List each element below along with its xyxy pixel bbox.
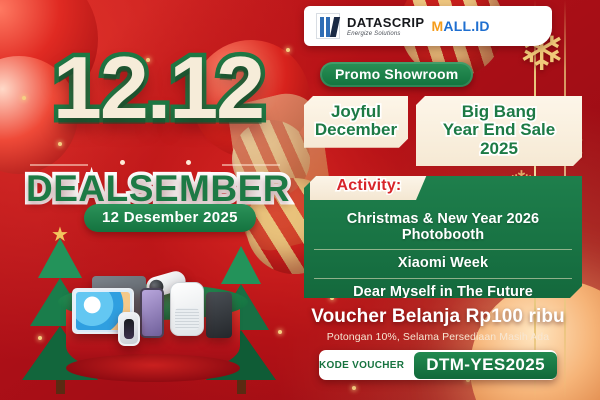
brand-name: DATASCRIP: [347, 16, 425, 29]
voucher-code-bar[interactable]: KODE VOUCHER DTM-YES2025: [319, 350, 557, 380]
activity-badge-label: Activity:: [337, 177, 402, 195]
divider: [222, 164, 280, 166]
sparkle-dot: [186, 160, 191, 165]
promotional-banner: ❄ ❄ ❄ ❄ 12.12 DEALSEMBER 12 Desember 202…: [0, 0, 600, 400]
partner-logo: MALL.ID: [432, 19, 490, 33]
list-item[interactable]: Xiaomi Week: [314, 249, 572, 277]
datascrip-logo-icon: [316, 13, 340, 39]
product-smartwatch: [118, 312, 140, 346]
promo-card-line: 2025: [424, 140, 574, 158]
brand-tagline: Energize Solutions: [347, 31, 425, 37]
activity-panel: Activity: Christmas & New Year 2026 Phot…: [304, 176, 582, 298]
brand-logo-bar: DATASCRIP Energize Solutions MALL.ID: [304, 6, 552, 46]
activity-badge: Activity:: [310, 172, 428, 200]
voucher-title: Voucher Belanja Rp100 ribu: [304, 306, 572, 328]
promo-card-line: Joyful: [312, 103, 400, 121]
sparkle-dot: [120, 160, 125, 165]
voucher-code-value[interactable]: DTM-YES2025: [414, 352, 557, 379]
voucher-code-label: KODE VOUCHER: [319, 360, 404, 371]
promo-card-joyful-december[interactable]: Joyful December: [304, 96, 408, 148]
star-icon: ★: [51, 222, 69, 247]
product-speaker: [206, 292, 232, 338]
promo-card-big-bang-year-end-sale[interactable]: Big Bang Year End Sale 2025: [416, 96, 582, 166]
promo-showroom-label: Promo Showroom: [320, 62, 473, 87]
event-date-badge: 12 Desember 2025: [84, 204, 256, 232]
voucher-section: Voucher Belanja Rp100 ribu Potongan 10%,…: [304, 306, 572, 380]
list-item[interactable]: Christmas & New Year 2026 Photobooth: [314, 206, 572, 249]
list-item[interactable]: Dear Myself in The Future: [314, 278, 572, 306]
promo-card-line: December: [312, 121, 400, 139]
promo-box-row: Joyful December Big Bang Year End Sale 2…: [304, 96, 582, 166]
partner-logo-rest: ALL.ID: [443, 18, 489, 34]
divider: [30, 164, 88, 166]
partner-logo-initial: M: [432, 18, 444, 34]
info-column: DATASCRIP Energize Solutions MALL.ID Pro…: [300, 0, 586, 400]
voucher-subtitle: Potongan 10%, Selama Persediaan Masih Ad…: [304, 331, 572, 343]
activity-list: Christmas & New Year 2026 Photobooth Xia…: [314, 206, 572, 306]
product-smartphone: [140, 288, 164, 338]
promo-card-line: Year End Sale: [424, 121, 574, 139]
hero-section: 12.12 DEALSEMBER 12 Desember 2025 ★: [0, 0, 310, 400]
product-air-purifier: [170, 282, 204, 336]
page-title: 12.12: [26, 46, 290, 130]
promo-card-line: Big Bang: [424, 103, 574, 121]
